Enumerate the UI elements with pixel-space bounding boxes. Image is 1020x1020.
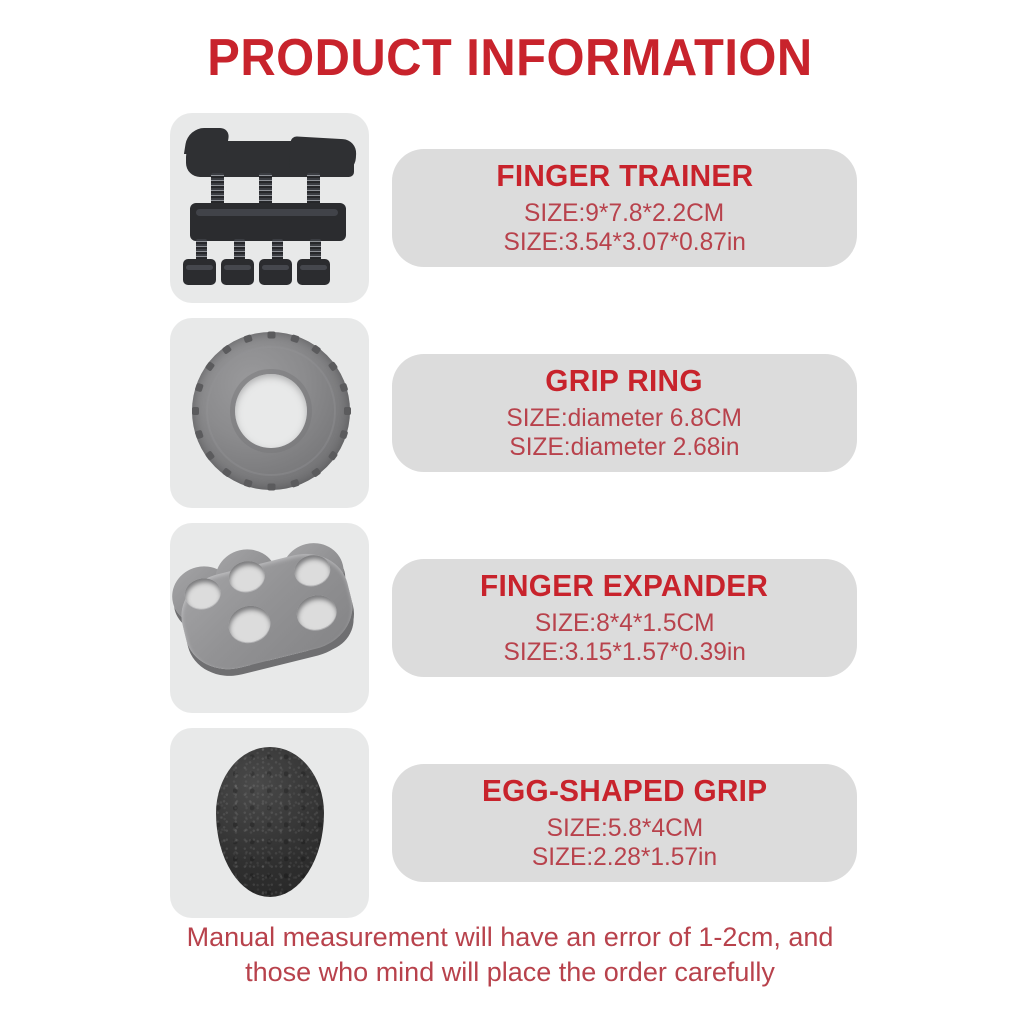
grip-ring-photo (170, 318, 369, 508)
finger-expander-shape (170, 525, 369, 713)
ring-nub (290, 479, 300, 488)
trainer-upper-spring (307, 173, 320, 205)
trainer-pad-highlight (186, 265, 213, 270)
product-size-metric: SIZE:9*7.8*2.2CM (524, 199, 724, 229)
ring-nub (344, 407, 351, 415)
finger-trainer-photo (170, 113, 369, 303)
trainer-lower-spring (310, 239, 321, 261)
trainer-upper-spring (259, 173, 272, 205)
grip-ring-image-tile (170, 318, 369, 508)
product-row-grip-ring: GRIP RING SIZE:diameter 6.8CM SIZE:diame… (0, 318, 1020, 508)
trainer-base-bar-highlight (196, 209, 338, 216)
finger-expander-info-card: FINGER EXPANDER SIZE:8*4*1.5CM SIZE:3.15… (392, 559, 857, 677)
trainer-pad-highlight (224, 265, 251, 270)
product-name: FINGER EXPANDER (480, 570, 768, 603)
finger-expander-image-tile (170, 523, 369, 713)
product-size-imperial: SIZE:diameter 2.68in (509, 433, 739, 463)
trainer-lower-spring (272, 239, 283, 261)
product-size-metric: SIZE:8*4*1.5CM (535, 609, 715, 639)
egg-shaped-grip-photo (170, 728, 369, 918)
trainer-pad-highlight (300, 265, 327, 270)
finger-trainer-info-card: FINGER TRAINER SIZE:9*7.8*2.2CM SIZE:3.5… (392, 149, 857, 267)
measurement-disclaimer: Manual measurement will have an error of… (0, 920, 1020, 989)
finger-trainer-image-tile (170, 113, 369, 303)
product-size-metric: SIZE:5.8*4CM (546, 814, 703, 844)
product-row-finger-trainer: FINGER TRAINER SIZE:9*7.8*2.2CM SIZE:3.5… (0, 113, 1020, 303)
disclaimer-line-1: Manual measurement will have an error of… (0, 920, 1020, 955)
ring-nub (267, 332, 275, 339)
egg-shaped-grip-info-card: EGG-SHAPED GRIP SIZE:5.8*4CM SIZE:2.28*1… (392, 764, 857, 882)
trainer-lower-spring (234, 239, 245, 261)
product-size-metric: SIZE:diameter 6.8CM (507, 404, 743, 434)
product-size-imperial: SIZE:3.54*3.07*0.87in (503, 228, 745, 258)
disclaimer-line-2: those who mind will place the order care… (0, 955, 1020, 990)
trainer-finger-pad (221, 259, 254, 285)
ring-nub (192, 407, 199, 415)
product-name: GRIP RING (546, 365, 703, 398)
product-row-egg-shaped-grip: EGG-SHAPED GRIP SIZE:5.8*4CM SIZE:2.28*1… (0, 728, 1020, 918)
product-row-finger-expander: FINGER EXPANDER SIZE:8*4*1.5CM SIZE:3.15… (0, 523, 1020, 713)
ring-nub (243, 479, 253, 488)
trainer-pad-highlight (262, 265, 289, 270)
trainer-finger-pad (259, 259, 292, 285)
trainer-upper-spring (211, 173, 224, 205)
trainer-handle-taper-shape (289, 136, 357, 174)
grip-ring-shape (192, 332, 350, 490)
ring-nub (267, 484, 275, 491)
trainer-lower-spring (196, 239, 207, 261)
trainer-finger-pad (183, 259, 216, 285)
ring-center-hole (235, 374, 306, 448)
product-list: FINGER TRAINER SIZE:9*7.8*2.2CM SIZE:3.5… (0, 113, 1020, 918)
product-information-infographic: PRODUCT INFORMATION (0, 0, 1020, 1020)
product-size-imperial: SIZE:2.28*1.57in (532, 843, 717, 873)
trainer-finger-pad (297, 259, 330, 285)
finger-expander-photo (170, 523, 369, 713)
egg-grip-shape (216, 747, 324, 897)
page-title: PRODUCT INFORMATION (31, 28, 990, 88)
product-size-imperial: SIZE:3.15*1.57*0.39in (503, 638, 745, 668)
product-name: EGG-SHAPED GRIP (482, 775, 767, 808)
egg-grip-texture (216, 747, 324, 897)
grip-ring-info-card: GRIP RING SIZE:diameter 6.8CM SIZE:diame… (392, 354, 857, 472)
egg-shaped-grip-image-tile (170, 728, 369, 918)
product-name: FINGER TRAINER (496, 160, 753, 193)
